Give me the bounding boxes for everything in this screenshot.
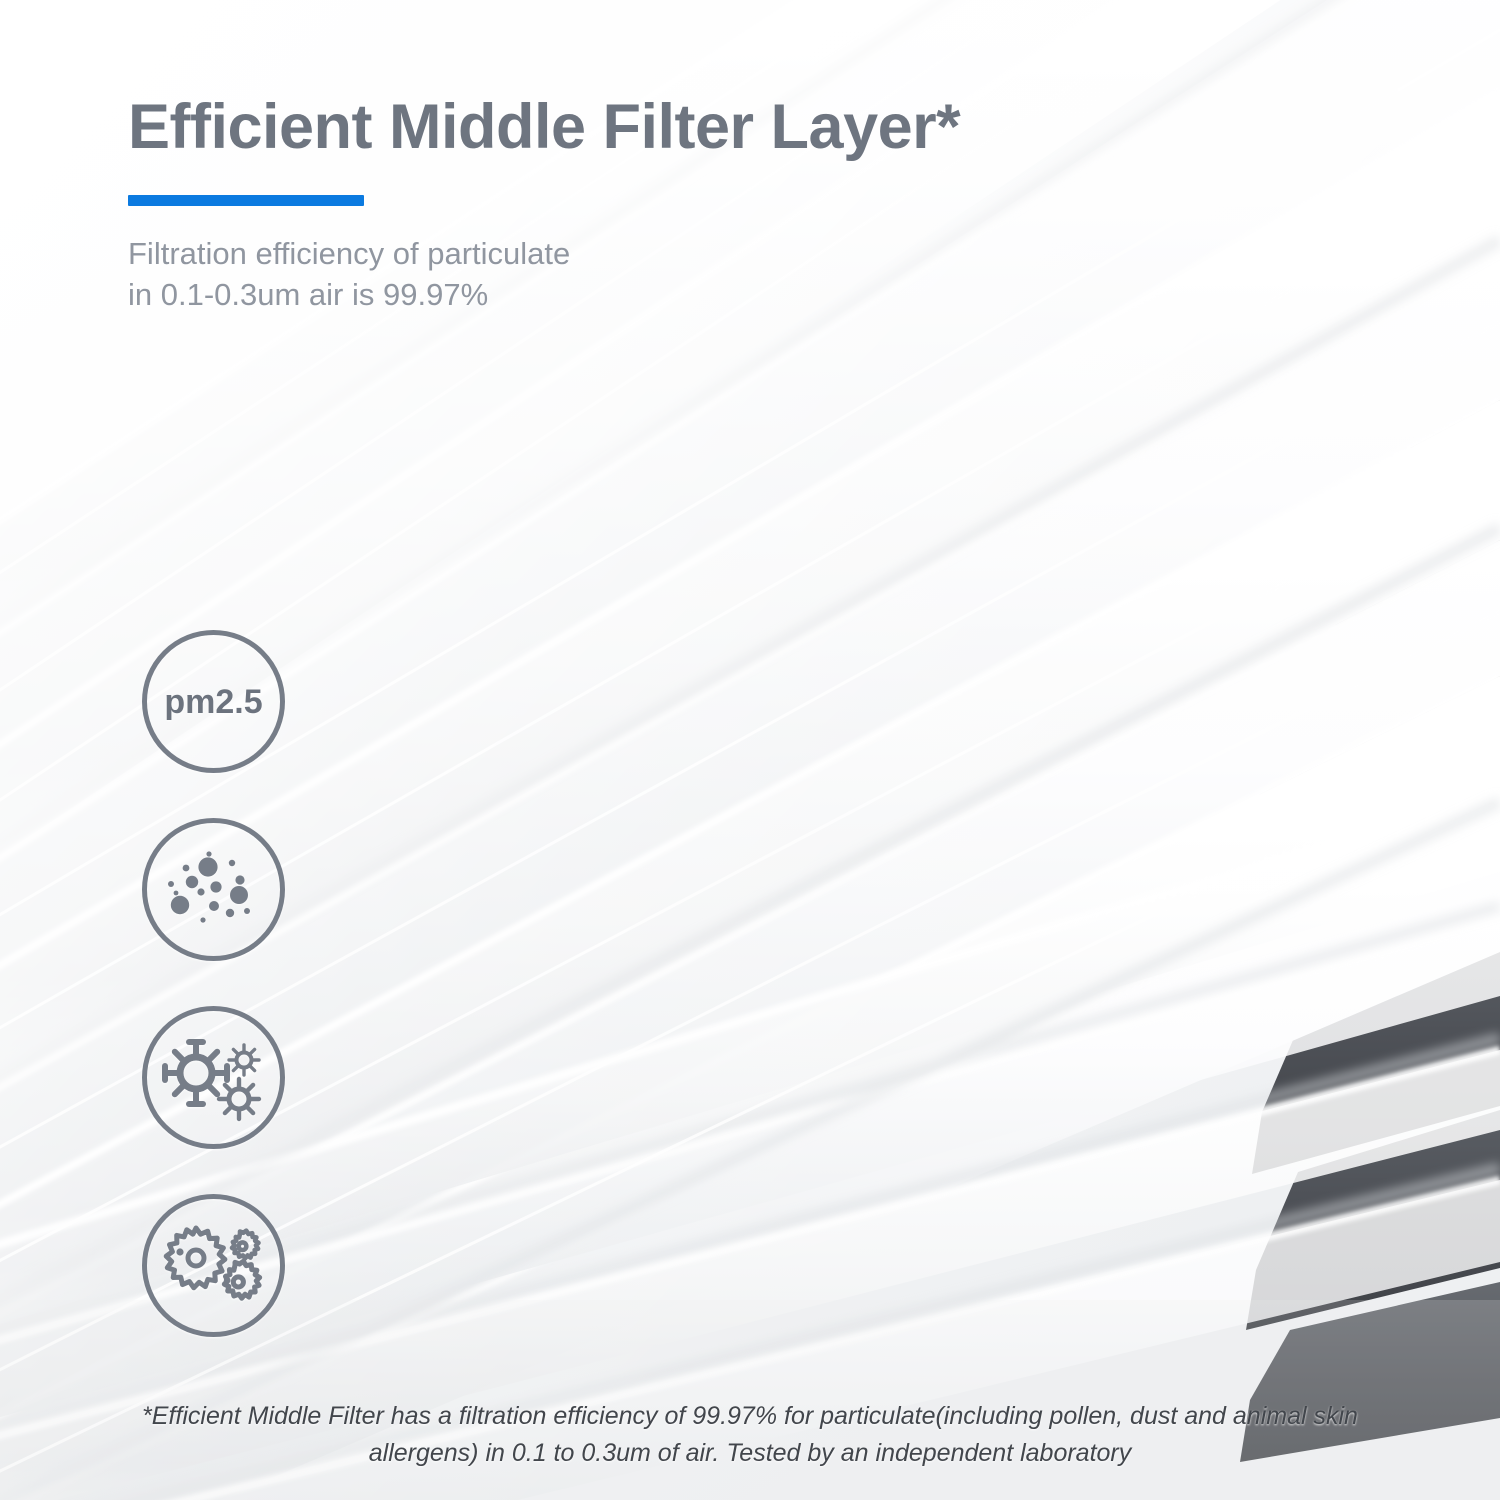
subtitle: Filtration efficiency of particulate in …	[128, 233, 1348, 315]
product-feature-image: Efficient Middle Filter Layer* Filtratio…	[0, 0, 1500, 1500]
pm25-label: pm2.5	[164, 683, 262, 721]
footnote-disclaimer: *Efficient Middle Filter has a filtratio…	[0, 1398, 1500, 1471]
virus-icon	[165, 1042, 259, 1119]
accent-bar	[128, 195, 364, 206]
bacteria-badge	[140, 1192, 287, 1339]
pm25-badge: pm2.5	[140, 628, 287, 775]
dust-badge	[140, 816, 287, 963]
virus-badge	[140, 1004, 287, 1151]
bacteria-pollen-icon	[166, 1228, 259, 1298]
page-title: Efficient Middle Filter Layer*	[128, 96, 1348, 159]
headline-block: Efficient Middle Filter Layer* Filtratio…	[128, 96, 1348, 346]
dust-particles-icon	[168, 851, 250, 922]
